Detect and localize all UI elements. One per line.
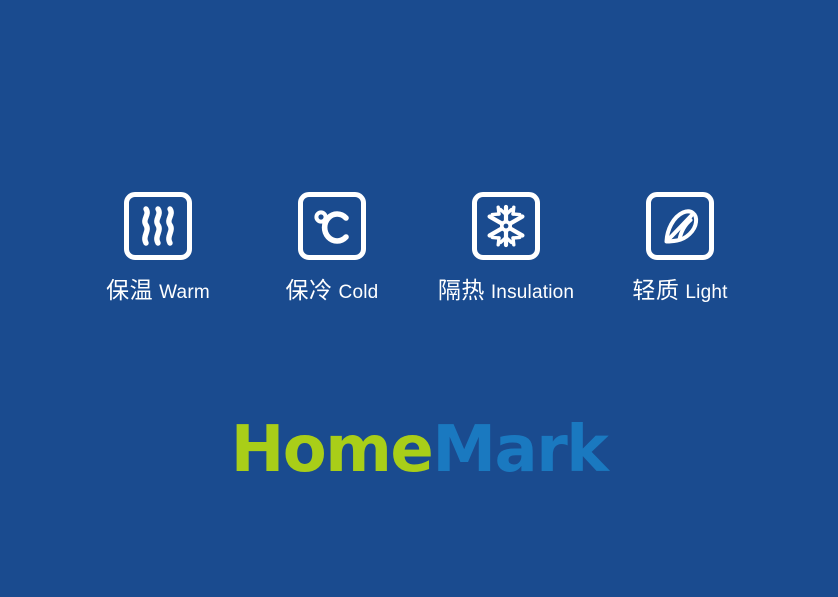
- snowflake-icon: [472, 192, 540, 260]
- feature-label-cn: 保冷: [286, 280, 333, 303]
- feature-label-cn: 轻质: [632, 280, 679, 303]
- feature-label-en: Light: [685, 283, 727, 302]
- feature-label-warm: 保温 Warm: [106, 280, 210, 303]
- feature-item-light[interactable]: 轻质 Light: [593, 192, 767, 303]
- heat-waves-icon: [124, 192, 192, 260]
- feather-icon: [646, 192, 714, 260]
- feature-label-insulation: 隔热 Insulation: [438, 280, 574, 303]
- feature-item-insulation[interactable]: 隔热 Insulation: [419, 192, 593, 303]
- feature-label-en: Insulation: [491, 283, 574, 302]
- feature-item-warm[interactable]: 保温 Warm: [71, 192, 245, 303]
- feature-label-en: Warm: [159, 283, 210, 302]
- celsius-degree-icon: [298, 192, 366, 260]
- feature-label-cn: 隔热: [438, 280, 485, 303]
- feature-item-cold[interactable]: 保冷 Cold: [245, 192, 419, 303]
- brand-logo-part-mark: Mark: [432, 413, 607, 487]
- feature-label-cold: 保冷 Cold: [286, 280, 379, 303]
- feature-row: 保温 Warm 保冷 Cold: [0, 192, 838, 303]
- promo-banner: 保温 Warm 保冷 Cold: [0, 0, 838, 597]
- feature-label-cn: 保温: [106, 280, 153, 303]
- feature-label-en: Cold: [339, 283, 379, 302]
- feature-label-light: 轻质 Light: [632, 280, 727, 303]
- brand-logo-part-home: Home: [231, 413, 433, 487]
- brand-logo: HomeMark: [0, 418, 838, 482]
